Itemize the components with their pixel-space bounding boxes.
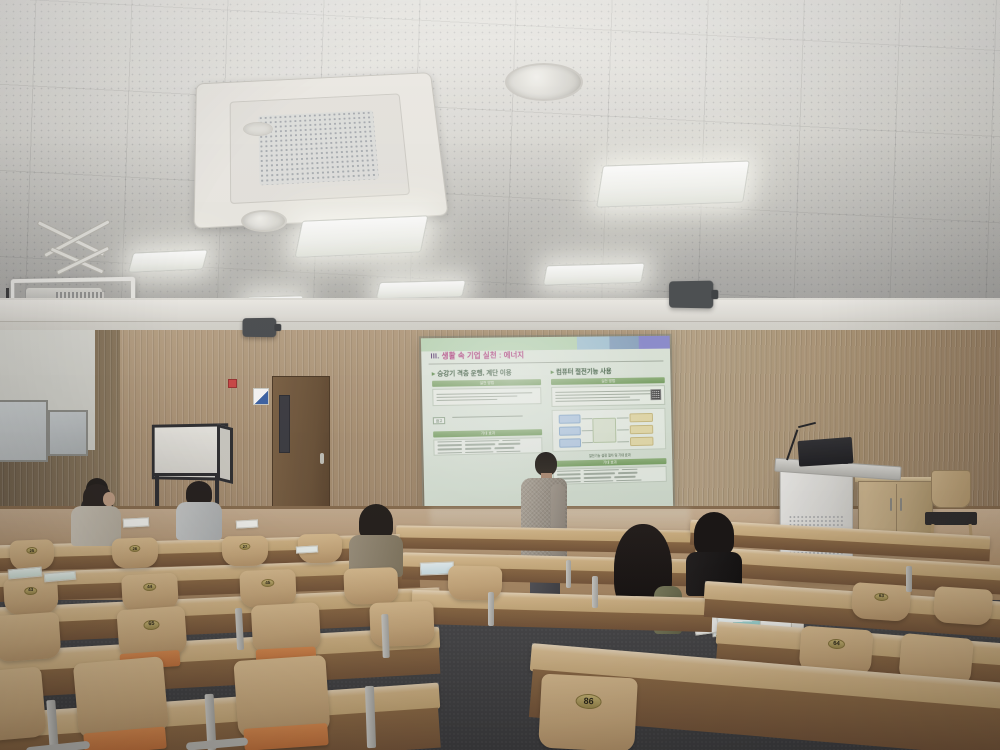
wall-speaker-icon [669, 281, 713, 309]
seat-back[interactable]: 26 [111, 537, 158, 569]
attendee-head [103, 492, 115, 506]
seat-number-plate: 43 [24, 586, 37, 595]
seat-back[interactable] [0, 612, 62, 662]
attendee-torso [176, 502, 222, 540]
seat-back[interactable]: 45 [239, 569, 296, 608]
attendee-left-grey [176, 481, 222, 543]
chair-leg [906, 566, 912, 592]
door-handle[interactable] [320, 453, 324, 464]
seat-back[interactable] [343, 567, 398, 605]
seat-back[interactable]: 86 [538, 674, 638, 750]
ceiling-cassette-ac-icon [194, 72, 449, 229]
ceiling-light-panel [295, 215, 429, 257]
seat-back[interactable] [0, 666, 47, 743]
door-window [279, 395, 290, 453]
seat-number-plate: 45 [261, 579, 274, 587]
ceiling-light-panel [596, 160, 750, 207]
seat-number-plate: 26 [129, 545, 140, 552]
chair-leg [488, 592, 494, 626]
attendee-right-dark [686, 512, 740, 590]
ceiling-light-panel [543, 263, 645, 286]
ceiling-diffuser-icon [505, 63, 583, 101]
chair-leg [592, 576, 598, 608]
fire-alarm-icon[interactable] [228, 379, 237, 388]
seat-back[interactable]: 27 [222, 536, 269, 567]
left-window-secondary [48, 410, 88, 456]
chair-back [931, 470, 971, 508]
ceiling-speaker-dome-icon [241, 210, 287, 232]
seat-back[interactable] [369, 601, 434, 647]
seat-back[interactable] [933, 586, 993, 626]
lectern-monitor[interactable] [797, 437, 853, 467]
whiteboard-crossbar [153, 473, 219, 476]
handout-white[interactable] [296, 545, 318, 553]
chair-leg [566, 560, 571, 588]
ceiling-light-panel [376, 280, 466, 299]
side-door[interactable] [272, 376, 330, 512]
seat-back[interactable]: 43 [3, 577, 59, 616]
handout-white[interactable] [123, 517, 149, 527]
exit-sign-icon [253, 388, 269, 405]
seat-number-plate: 63 [874, 592, 889, 601]
wall-soffit [0, 300, 1000, 322]
ceiling-sensor-icon [243, 122, 273, 136]
attendee-hair [694, 512, 734, 556]
cabinet-handle[interactable] [890, 498, 892, 511]
whiteboard-leg [155, 476, 159, 508]
wall-speaker-icon [242, 318, 276, 337]
seat-back[interactable]: 25 [9, 539, 54, 571]
seat-number-plate: 86 [575, 693, 602, 709]
chair-seat [925, 512, 977, 525]
seat-number-plate: 64 [828, 638, 846, 649]
left-window [0, 400, 48, 462]
whiteboard-side-panel [217, 424, 233, 484]
seat-back[interactable]: 63 [851, 582, 911, 622]
seat-back[interactable] [448, 566, 503, 601]
seat-number-plate: 27 [239, 543, 250, 550]
lecture-hall-photo: III. 생활 속 기업 실천 : 에너지 ▸승강기 격층 운행, 계단 이용 … [0, 0, 1000, 750]
attendee-center [349, 504, 403, 576]
handout-white[interactable] [236, 519, 258, 528]
chair-leg [381, 614, 390, 658]
seat-number-plate: 25 [26, 547, 37, 554]
seat-number-plate: 65 [143, 619, 160, 630]
seat-number-plate: 44 [143, 583, 156, 592]
cabinet-handle[interactable] [900, 498, 902, 511]
